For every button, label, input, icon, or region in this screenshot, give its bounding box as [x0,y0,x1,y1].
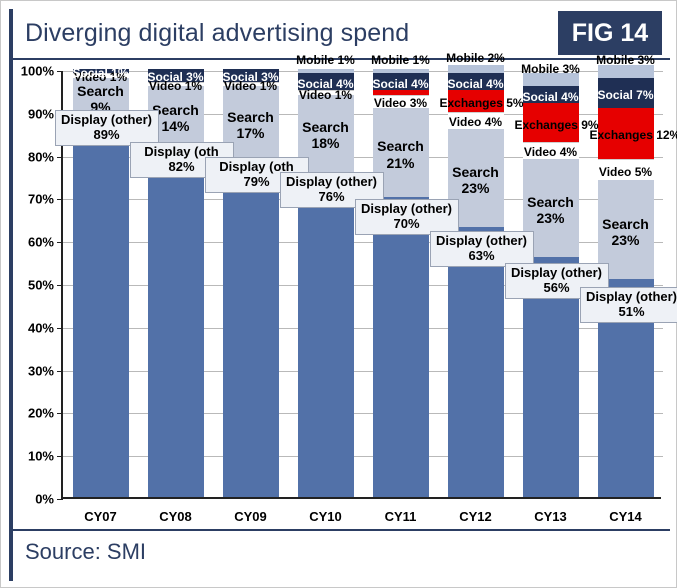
data-label-video: Video 4% [440,115,512,129]
callout-series-name: Display (other) [511,265,602,280]
data-label-video: Video 4% [515,145,587,159]
y-axis-tick [57,371,63,372]
source-note: Source: SMI [25,539,146,565]
search-label-value: 23% [461,180,489,196]
y-axis-tick-label: 80% [28,149,54,164]
data-label-mobile: Mobile 1% [290,53,362,67]
search-label-value: 14% [161,118,189,134]
bar-segment-display [148,146,204,497]
callout-series-name: Display (other) [61,112,152,127]
data-label-mobile: Mobile 3% [515,62,587,76]
y-axis-tick-label: 50% [28,278,54,293]
data-label-mobile: Mobile 2% [440,51,512,65]
bar-segment-mobile [298,69,354,73]
chart-plot-area: 0%10%20%30%40%50%60%70%80%90%100%CY07CY0… [13,61,670,527]
figure-container: Diverging digital advertising spend FIG … [0,0,677,588]
x-axis-tick-label: CY13 [534,509,567,524]
y-axis-tick-label: 100% [21,64,54,79]
callout-series-name: Display (other) [286,174,377,189]
y-axis-tick-label: 40% [28,320,54,335]
x-axis-tick-label: CY10 [309,509,342,524]
data-label-mobile: Mobile 1% [365,53,437,67]
callout-series-name: Display (other) [361,201,452,216]
data-label-search: Search23% [586,216,666,248]
search-label-value: 21% [386,155,414,171]
data-label-video: Video 5% [590,165,662,179]
data-label-search: Search23% [436,164,516,196]
y-axis-tick-label: 90% [28,106,54,121]
bar-segment-display [73,116,129,497]
y-axis-tick-label: 30% [28,363,54,378]
y-axis-tick [57,456,63,457]
search-label-value: 23% [536,210,564,226]
data-label-social: Social 3% [140,70,212,84]
footer-divider [13,529,670,531]
search-label-name: Search [227,109,274,125]
chart-axes: 0%10%20%30%40%50%60%70%80%90%100%CY07CY0… [61,71,661,499]
bar-segment-exchanges [373,90,429,94]
search-label-name: Search [302,119,349,135]
search-label-name: Search [602,216,649,232]
data-label-social: Social 4% [440,77,512,91]
y-axis-tick [57,71,63,72]
data-label-social: Social 7% [590,88,662,102]
data-label-social: Social 4% [365,77,437,91]
search-label-value: 18% [311,135,339,151]
bar-column [373,69,429,497]
data-label-mobile: Mobile 3% [590,53,662,67]
y-axis-tick-label: 60% [28,235,54,250]
y-axis-tick-label: 0% [35,492,54,507]
y-axis-tick-label: 20% [28,406,54,421]
callout-value: 51% [585,305,677,320]
y-axis-tick [57,413,63,414]
y-axis-tick [57,499,63,500]
data-label-video: Video 3% [365,96,437,110]
bar-segment-display [223,159,279,497]
data-label-search: Search21% [361,138,441,170]
x-axis-tick-label: CY12 [459,509,492,524]
search-label-name: Search [152,102,199,118]
figure-number-badge: FIG 14 [558,11,662,55]
data-label-display-other: Display (other)51% [580,287,677,323]
bar-segment-display [298,172,354,497]
data-label-social: Social 1% [65,66,137,80]
data-label-social: Social 3% [215,70,287,84]
data-label-display-other: Display (other)63% [430,231,534,267]
data-label-search: Search18% [286,119,366,151]
x-axis-tick-label: CY14 [609,509,642,524]
data-label-search: Search23% [511,194,591,226]
y-axis-tick-label: 10% [28,449,54,464]
callout-series-name: Display (other) [586,289,677,304]
y-axis-tick [57,199,63,200]
data-label-social: Social 4% [515,90,587,104]
data-label-search: Search17% [211,109,291,141]
data-label-display-other: Display (other)70% [355,199,459,235]
data-label-exchanges: Exchanges 9% [515,118,587,132]
search-label-name: Search [527,194,574,210]
page-title: Diverging digital advertising spend [25,19,409,48]
y-axis-tick [57,285,63,286]
search-label-value: 17% [236,125,264,141]
bar-segment-mobile [448,65,504,74]
x-axis-tick-label: CY08 [159,509,192,524]
x-axis-tick-label: CY07 [84,509,117,524]
y-axis-tick [57,328,63,329]
search-label-name: Search [377,138,424,154]
figure-header: Diverging digital advertising spend FIG … [13,9,670,59]
search-label-name: Search [452,164,499,180]
callout-series-name: Display (other) [436,233,527,248]
x-axis-tick-label: CY09 [234,509,267,524]
bar-segment-display [448,227,504,497]
y-axis-tick-label: 70% [28,192,54,207]
data-label-exchanges: Exchanges 5% [440,96,512,110]
data-label-social: Social 4% [290,77,362,91]
y-axis-tick [57,242,63,243]
data-label-exchanges: Exchanges 12% [590,128,662,142]
x-axis-tick-label: CY11 [385,509,417,524]
bar-segment-display [373,197,429,497]
callout-value: 70% [360,217,454,232]
bar-column [448,69,504,497]
y-axis-tick [57,157,63,158]
callout-value: 89% [60,128,154,143]
search-label-name: Search [77,83,124,99]
data-label-display-other: Display (other)89% [55,110,159,146]
callout-value: 63% [435,249,529,264]
search-label-value: 23% [611,232,639,248]
bar-segment-mobile [373,69,429,73]
